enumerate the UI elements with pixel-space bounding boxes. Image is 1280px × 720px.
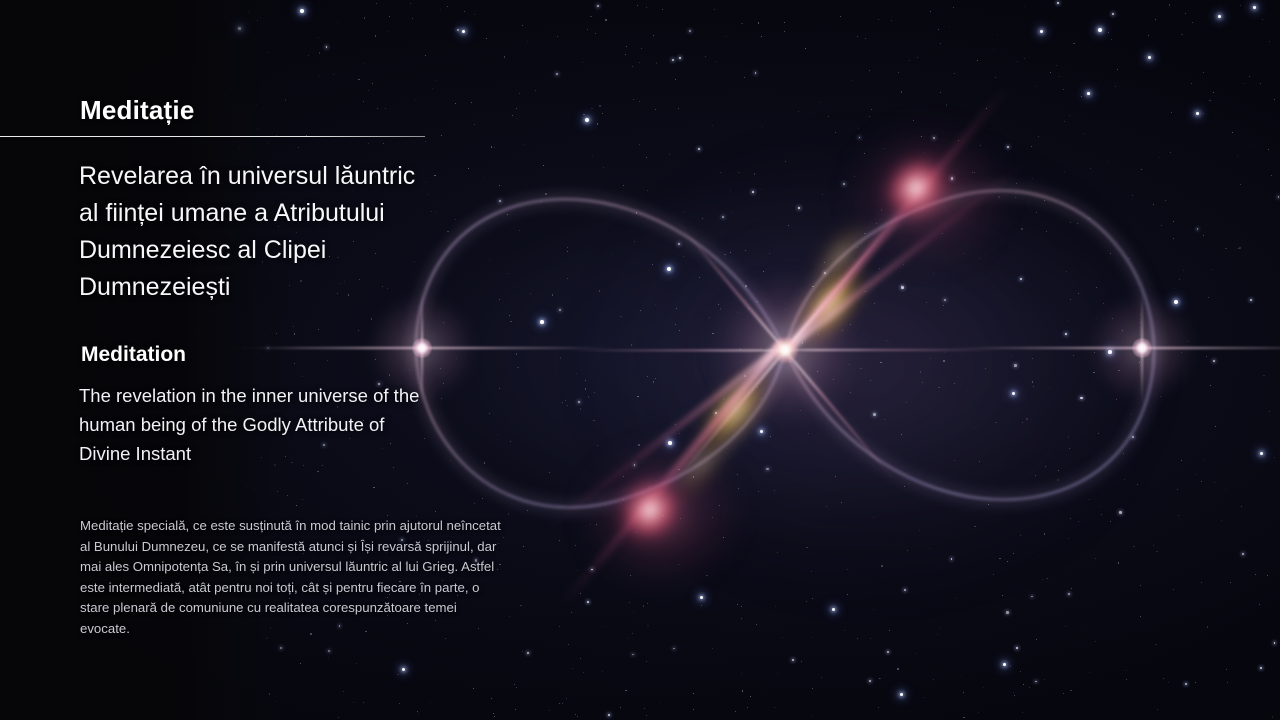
presentation-slide: Meditație Revelarea în universul lăuntri… [0, 0, 1280, 720]
body-description: Meditație specială, ce este susținută în… [80, 516, 505, 639]
headline-romanian: Revelarea în universul lăuntric al ființ… [79, 158, 439, 306]
text-content: Meditație Revelarea în universul lăuntri… [0, 0, 520, 720]
title-divider [0, 136, 425, 137]
page-title: Meditație [80, 95, 194, 126]
right-node-core [1132, 338, 1152, 358]
center-core [772, 337, 798, 363]
subtitle-english: Meditation [81, 343, 186, 367]
headline-english: The revelation in the inner universe of … [79, 381, 424, 468]
